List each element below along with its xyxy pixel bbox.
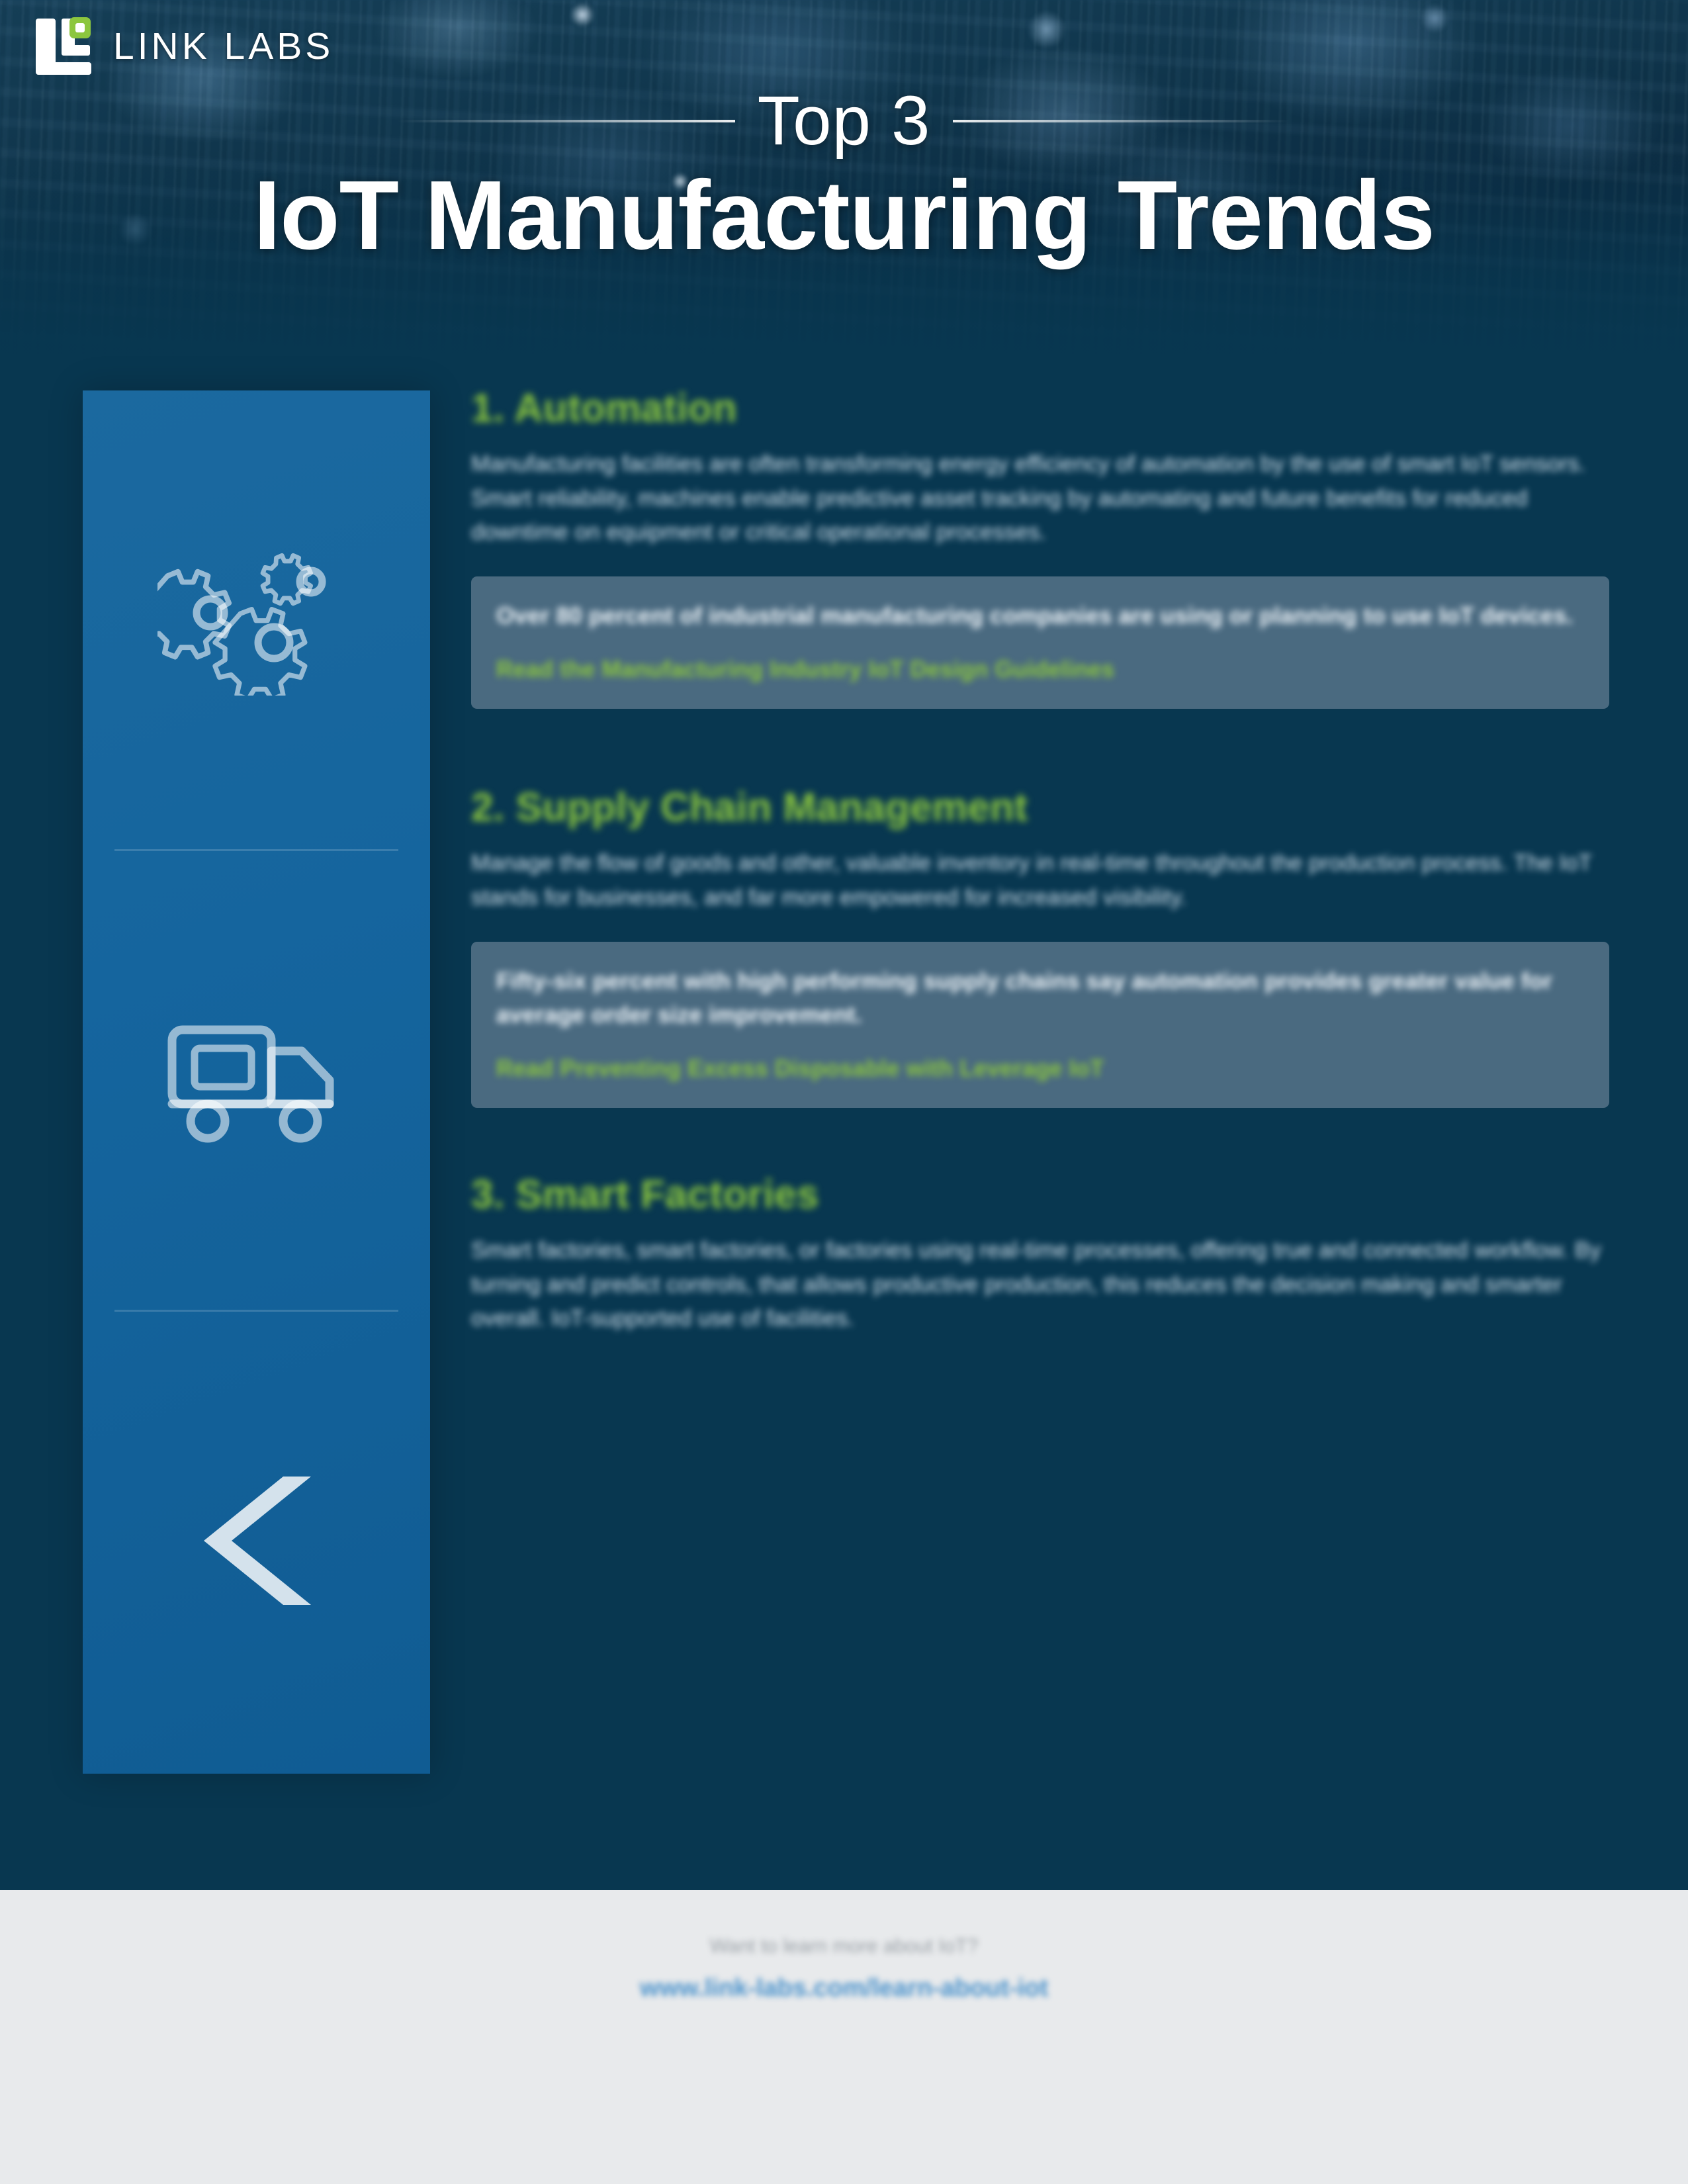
footer-url-link[interactable]: www.link-labs.com/learn-about-iot xyxy=(0,1971,1688,2006)
section-body: Smart factories, smart factories, or fac… xyxy=(471,1234,1609,1336)
delivery-truck-icon xyxy=(157,1007,356,1156)
rule-right xyxy=(953,120,1290,122)
brand-name: LINK LABS xyxy=(113,24,333,68)
section-automation: 1. Automation Manufacturing facilities a… xyxy=(471,387,1609,709)
brand-logo[interactable]: LINK LABS xyxy=(32,15,333,77)
section-body: Manage the flow of goods and other, valu… xyxy=(471,846,1609,915)
sections-column: 1. Automation Manufacturing facilities a… xyxy=(471,390,1609,1336)
icon-rail xyxy=(83,390,430,1774)
infographic-canvas: LINK LABS Top 3 IoT Manufacturing Trends xyxy=(0,0,1688,1890)
footer: Want to learn more about IoT? www.link-l… xyxy=(0,1890,1688,2184)
rule-left xyxy=(398,120,735,122)
section-supply-chain: 2. Supply Chain Management Manage the fl… xyxy=(471,786,1609,1108)
infographic-page: LINK LABS Top 3 IoT Manufacturing Trends xyxy=(0,0,1688,2184)
footer-note: Want to learn more about IoT? xyxy=(0,1890,1688,1960)
section-smart-factories: 3. Smart Factories Smart factories, smar… xyxy=(471,1173,1609,1336)
chevron-left-icon xyxy=(171,1465,343,1620)
section-heading: 1. Automation xyxy=(471,387,1609,430)
gears-icon xyxy=(157,543,356,699)
callout-statistic: Over 80 percent of industrial manufactur… xyxy=(496,599,1583,633)
rail-cell-automation xyxy=(83,390,430,851)
eyebrow-row: Top 3 xyxy=(0,86,1688,156)
callout-box: Fifty-six percent with high performing s… xyxy=(471,942,1609,1108)
title-block: Top 3 IoT Manufacturing Trends xyxy=(0,86,1688,267)
section-heading: 2. Supply Chain Management xyxy=(471,786,1609,829)
page-title: IoT Manufacturing Trends xyxy=(0,165,1688,267)
rail-cell-smart-factories xyxy=(83,1312,430,1772)
section-body: Manufacturing facilities are often trans… xyxy=(471,447,1609,550)
callout-statistic: Fifty-six percent with high performing s… xyxy=(496,964,1583,1032)
rail-cell-supply-chain xyxy=(83,851,430,1312)
callout-box: Over 80 percent of industrial manufactur… xyxy=(471,576,1609,709)
section-heading: 3. Smart Factories xyxy=(471,1173,1609,1216)
eyebrow-text: Top 3 xyxy=(758,86,931,156)
callout-link[interactable]: Read the Manufacturing Industry IoT Desi… xyxy=(496,653,1583,686)
callout-link[interactable]: Read Preventing Excess Disposable with L… xyxy=(496,1052,1583,1085)
link-labs-logo-icon xyxy=(32,15,95,77)
